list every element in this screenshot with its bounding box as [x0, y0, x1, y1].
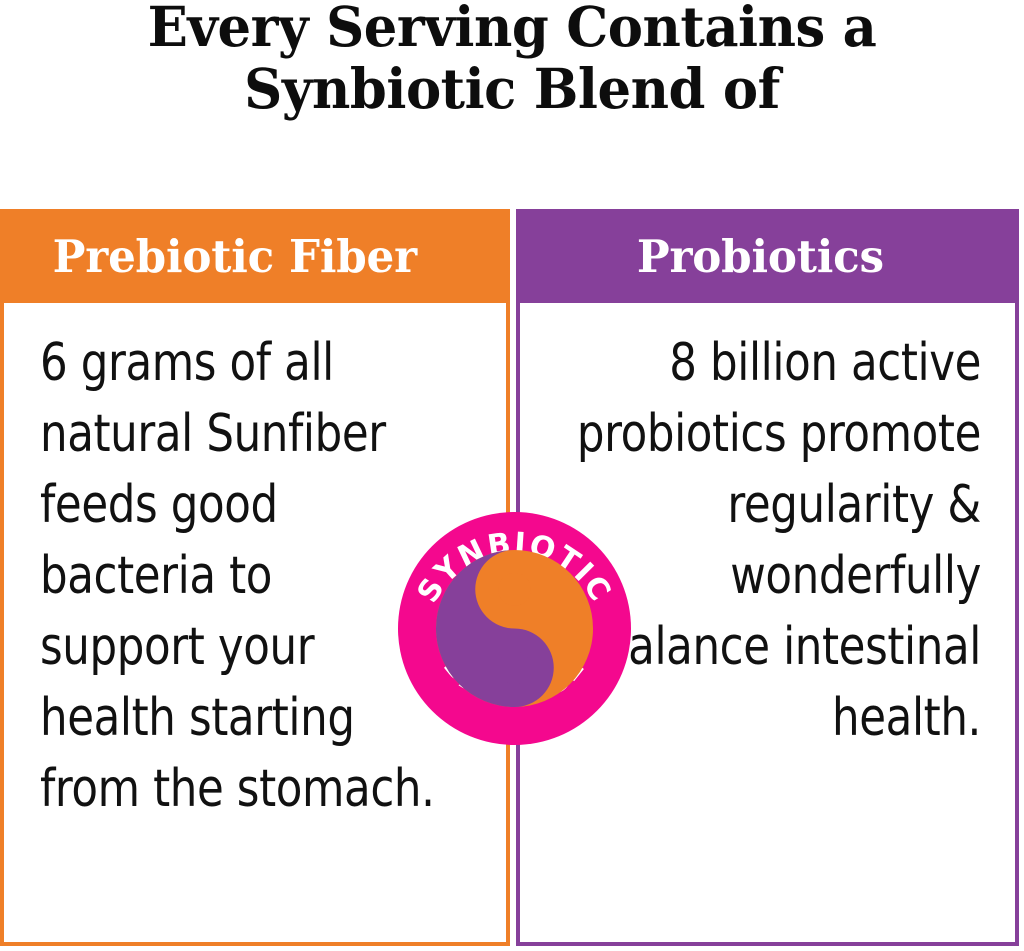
page-title-line-2: Synbiotic Blend of	[20, 58, 1003, 120]
panel-probiotics-title: Probiotics	[637, 230, 884, 283]
infographic-canvas: Every Serving Contains a Synbiotic Blend…	[0, 0, 1024, 951]
panel-prebiotic-fiber-text: 6 grams of all natural Sunfiber feeds go…	[40, 328, 440, 825]
panel-probiotics-text: 8 billion active probiotics promote regu…	[569, 328, 981, 754]
panel-prebiotic-fiber-header: Prebiotic Fiber	[0, 209, 510, 303]
page-title-line-1: Every Serving Contains a	[20, 0, 1003, 58]
panel-prebiotic-fiber-title: Prebiotic Fiber	[53, 230, 417, 283]
panel-probiotics-header: Probiotics	[516, 209, 1019, 303]
page-title: Every Serving Contains a Synbiotic Blend…	[0, 0, 1024, 119]
synbiotic-balance-badge: SYNBIOTIC BALANCE	[398, 512, 631, 745]
yin-yang-icon	[436, 550, 593, 707]
